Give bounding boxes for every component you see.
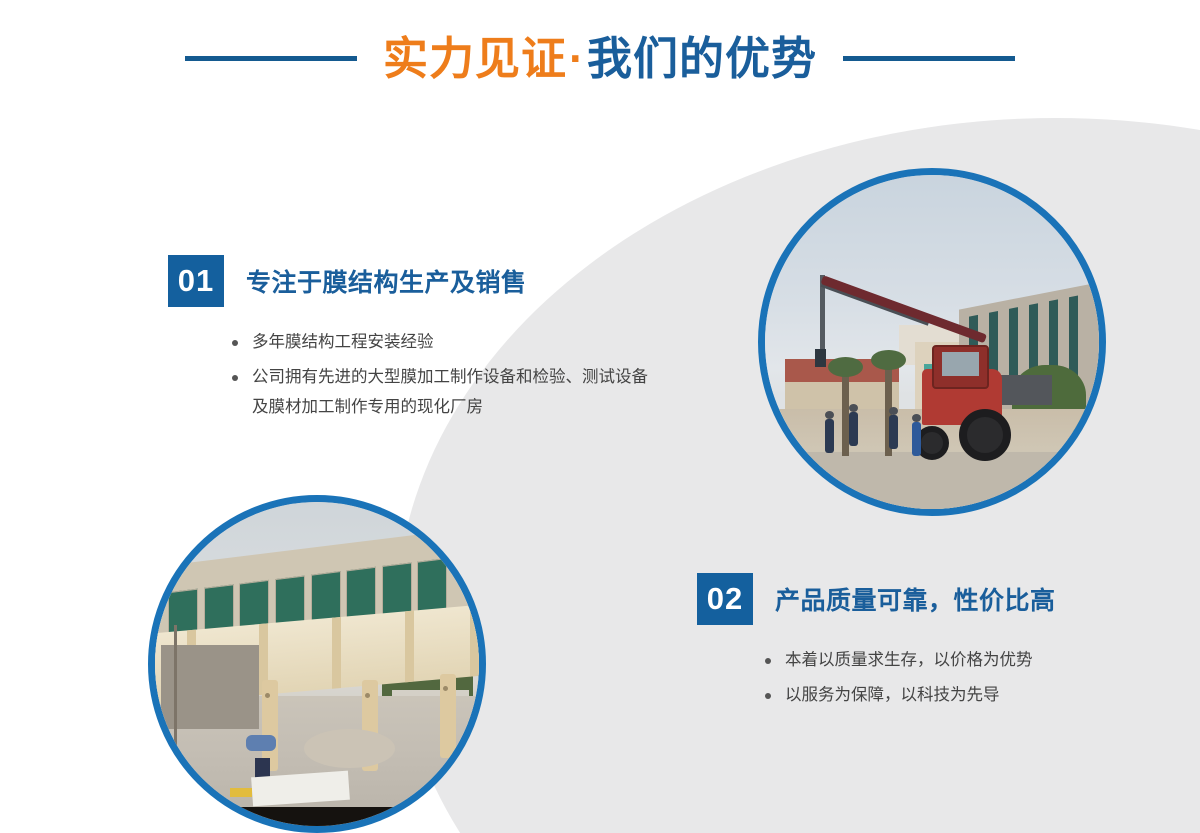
scaffolding: [174, 625, 177, 755]
feature-01-title: 专注于膜结构生产及销售: [246, 263, 527, 299]
list-item: 多年膜结构工程安装经验: [230, 327, 660, 357]
tree: [842, 369, 849, 456]
membrane-carport-photo: [148, 495, 486, 833]
list-item: 以服务为保障，以科技为先导: [763, 680, 1056, 710]
feature-02-bullet-list: 本着以质量求生存，以价格为优势 以服务为保障，以科技为先导: [763, 645, 1056, 710]
page-title-orange: 实力见证: [383, 33, 567, 84]
page-title-separator-dot: ·: [567, 33, 587, 84]
yellow-marker: [230, 788, 252, 797]
crane-hook: [815, 349, 826, 367]
worker-torso: [246, 735, 276, 751]
feature-block-01: 01 专注于膜结构生产及销售 多年膜结构工程安装经验 公司拥有先进的大型膜加工制…: [168, 255, 660, 427]
feature-01-bullet-list: 多年膜结构工程安装经验 公司拥有先进的大型膜加工制作设备和检验、测试设备及膜材加…: [230, 327, 660, 422]
worker: [825, 419, 834, 453]
list-item: 本着以质量求生存，以价格为优势: [763, 645, 1056, 675]
advantages-banner: 实力见证·我们的优势: [0, 0, 1200, 833]
section-header: 实力见证·我们的优势: [0, 22, 1200, 94]
carport-photo-content: [155, 502, 479, 826]
page-title: 实力见证·我们的优势: [383, 36, 817, 81]
list-item: 公司拥有先进的大型膜加工制作设备和检验、测试设备及膜材加工制作专用的现化厂房: [230, 362, 660, 422]
feature-01-number-badge: 01: [168, 255, 224, 307]
worker: [849, 412, 858, 446]
feature-02-head: 02 产品质量可靠，性价比高: [697, 573, 1056, 625]
header-rule-right: [843, 56, 1015, 61]
tractor-rear-wheel: [959, 409, 1011, 461]
feature-block-02: 02 产品质量可靠，性价比高 本着以质量求生存，以价格为优势 以服务为保障，以科…: [697, 573, 1056, 715]
tractor-cab: [932, 345, 989, 389]
header-rule-left: [185, 56, 357, 61]
feature-02-title: 产品质量可靠，性价比高: [775, 581, 1056, 617]
worker: [889, 415, 898, 449]
crane-photo-content: [765, 175, 1099, 509]
canopy-column: [440, 674, 456, 758]
photo-bottom-shadow: [213, 807, 420, 826]
worker: [912, 422, 921, 456]
feature-02-number-badge: 02: [697, 573, 753, 625]
feature-01-head: 01 专注于膜结构生产及销售: [168, 255, 660, 307]
concrete-road: [765, 452, 1099, 509]
crane-installation-photo: [758, 168, 1106, 516]
page-title-blue: 我们的优势: [587, 33, 817, 84]
rubble-pile: [304, 729, 395, 768]
